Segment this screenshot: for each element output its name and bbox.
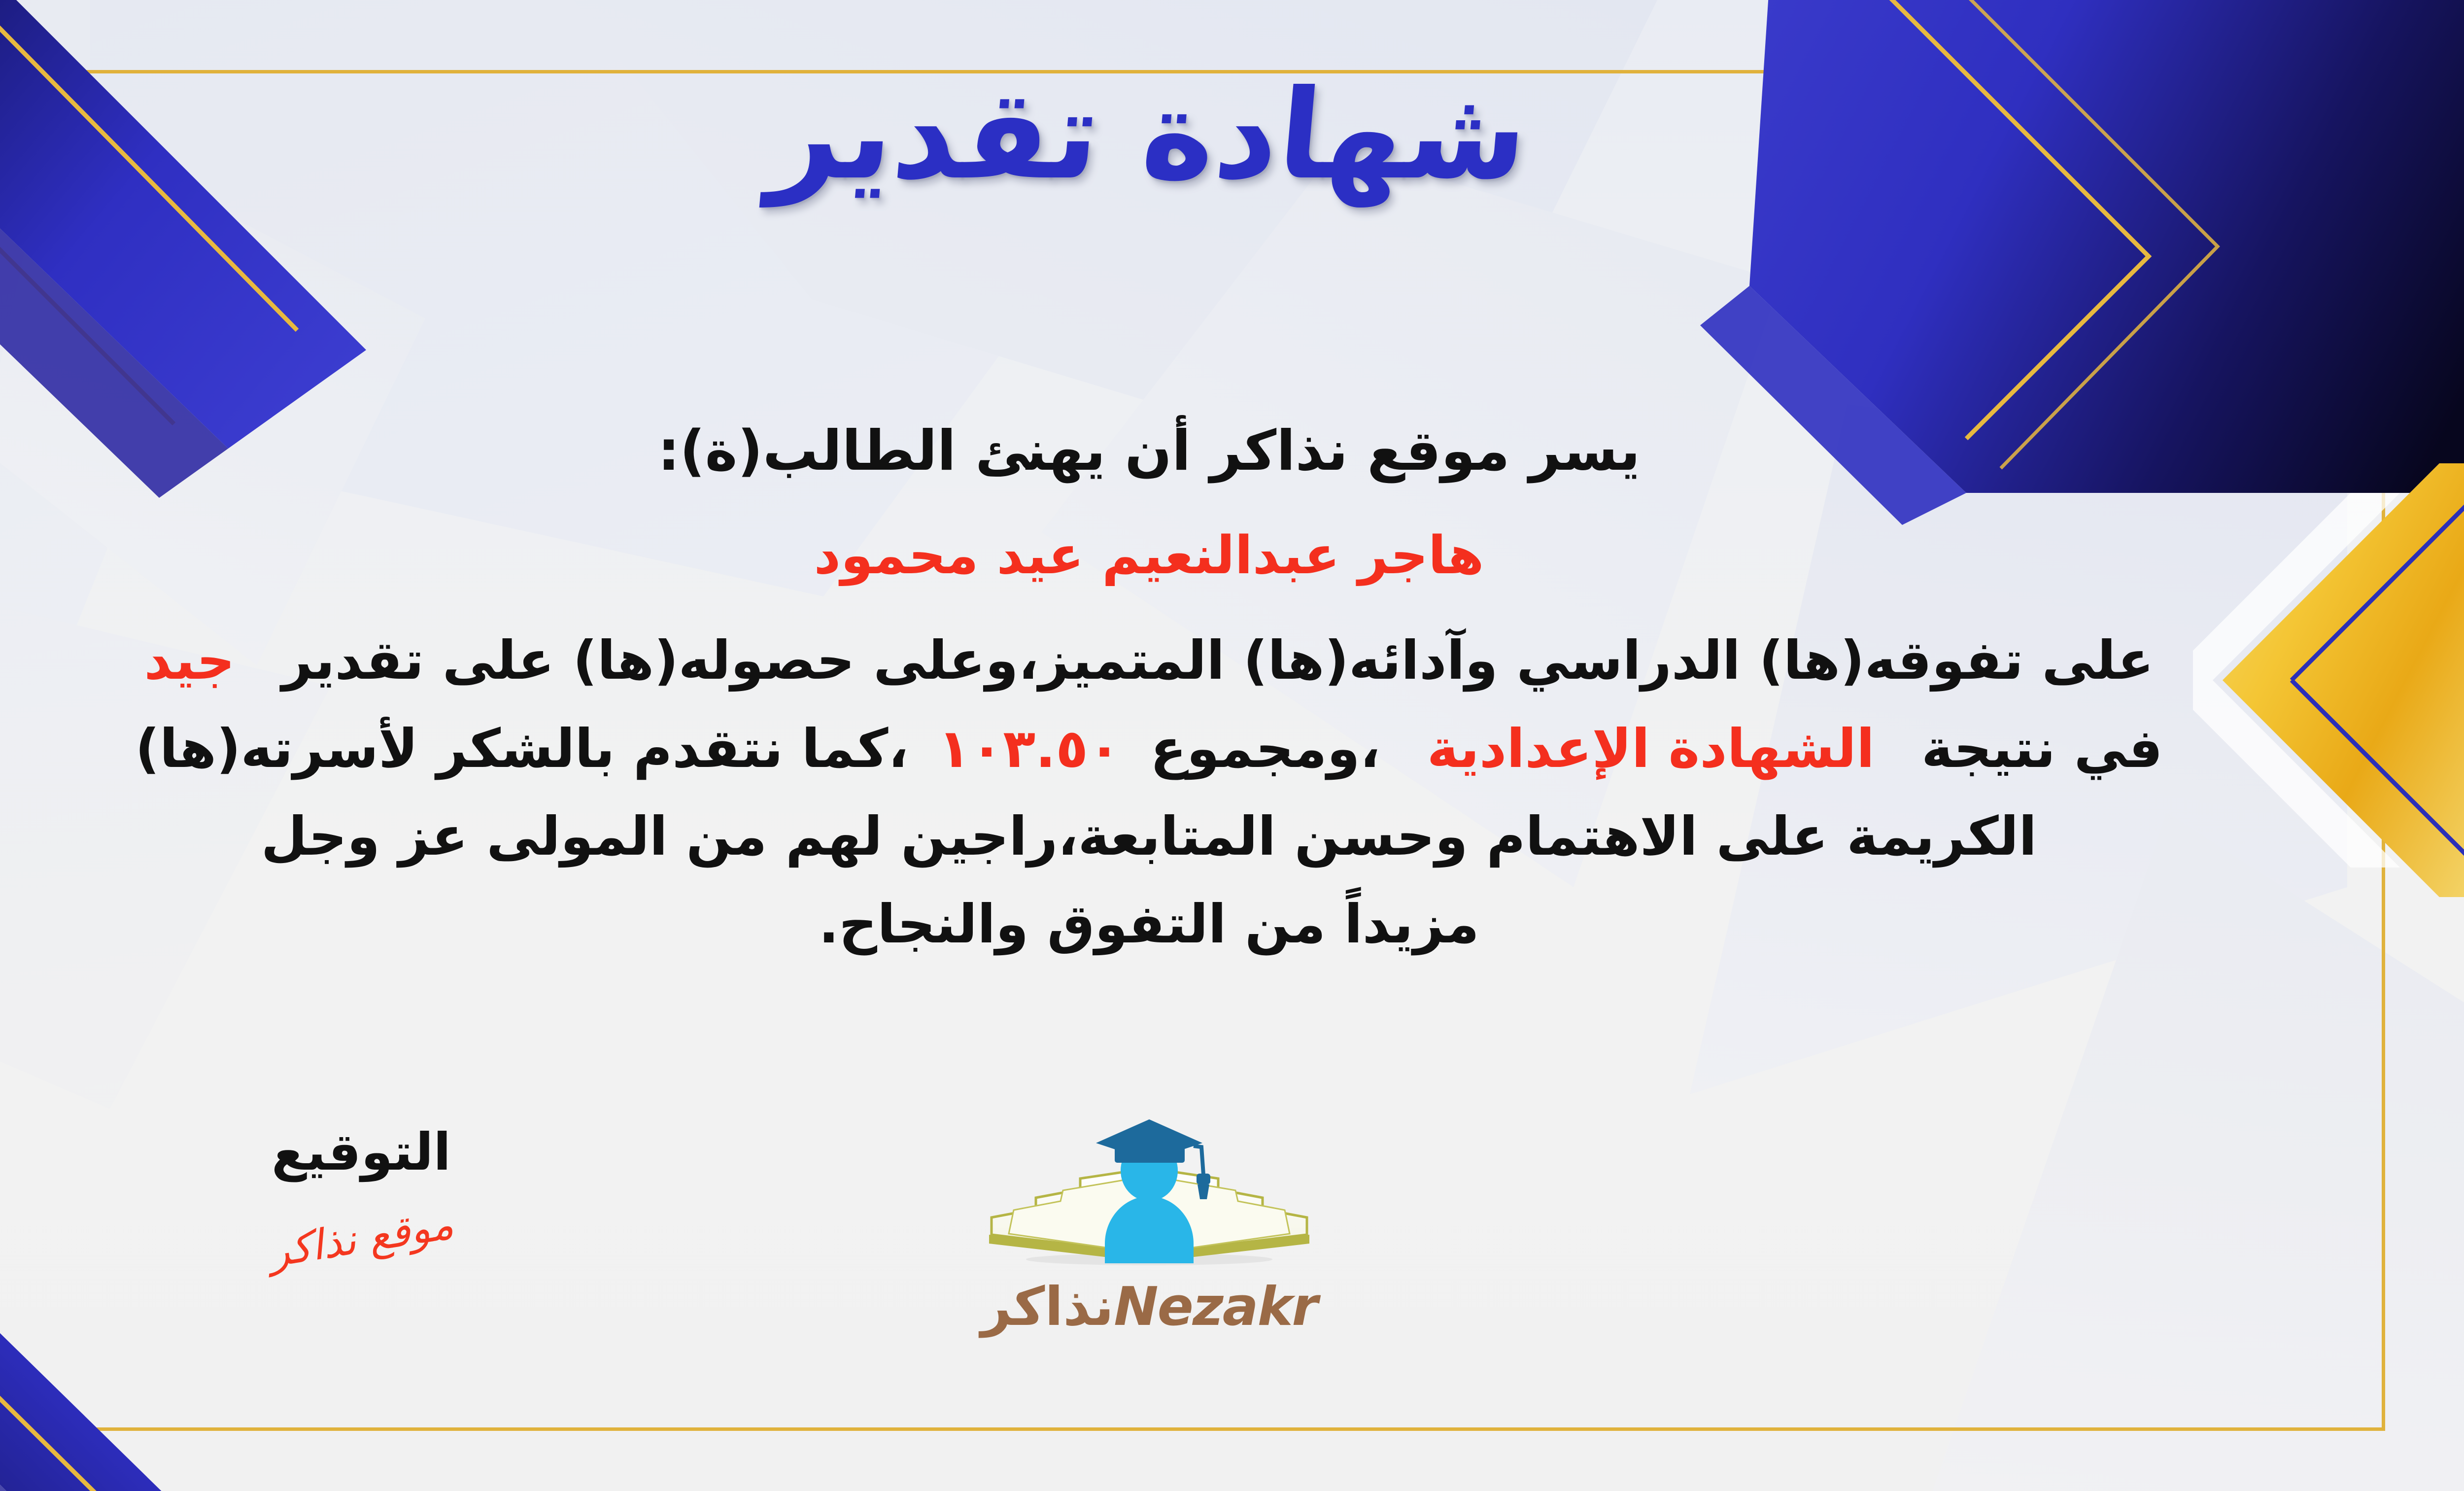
certificate-footer: التوقيع موقع نذاكر: [0, 1126, 2341, 1402]
exam-name: الشهادة الإعدادية: [1427, 718, 1875, 780]
student-name: هاجر عبدالنعيم عيد محمود: [0, 516, 2351, 595]
total-score: ١٠٣.٥٠: [938, 718, 1121, 780]
exam-result-label: في نتيجة: [1921, 718, 2163, 780]
achievement-line-4: مزيداً من التفوق والنجاح.: [0, 884, 2351, 965]
achievement-line-2: في نتيجةالشهادة الإعدادية،ومجموع١٠٣.٥٠،ك…: [0, 709, 2351, 790]
achievement-line-3: الكريمة على الاهتمام وحسن المتابعة،راجين…: [0, 797, 2351, 877]
achievement-line-1: على تفوقه(ها) الدراسي وآدائه(ها) المتميز…: [0, 621, 2351, 701]
signature-block: التوقيع موقع نذاكر: [233, 1126, 489, 1262]
signature-label: التوقيع: [233, 1126, 489, 1178]
signature-script: موقع نذاكر: [266, 1200, 457, 1277]
total-label: ،ومجموع: [1150, 718, 1380, 780]
certificate-body: يسر موقع نذاكر أن يهنئ الطالب(ة): هاجر ع…: [0, 409, 2351, 972]
site-logo: Nezakrنذاكر: [962, 1111, 1336, 1338]
greeting-line: يسر موقع نذاكر أن يهنئ الطالب(ة):: [0, 409, 2351, 493]
thanks-text: ،كما نتقدم بالشكر لأسرته(ها): [135, 718, 908, 780]
achievement-text-1: على تفوقه(ها) الدراسي وآدائه(ها) المتميز…: [282, 630, 2154, 692]
logo-arabic-text: نذاكر: [981, 1276, 1114, 1338]
certificate-card: شهادة تقدير يسر موقع نذاكر أن يهنئ الطال…: [0, 0, 2464, 1491]
logo-latin-text: Nezakr: [1114, 1276, 1317, 1338]
graduate-book-logo-icon: [962, 1111, 1336, 1274]
grade-value: جيد: [144, 630, 235, 692]
logo-wordmark: Nezakrنذاكر: [962, 1276, 1336, 1338]
